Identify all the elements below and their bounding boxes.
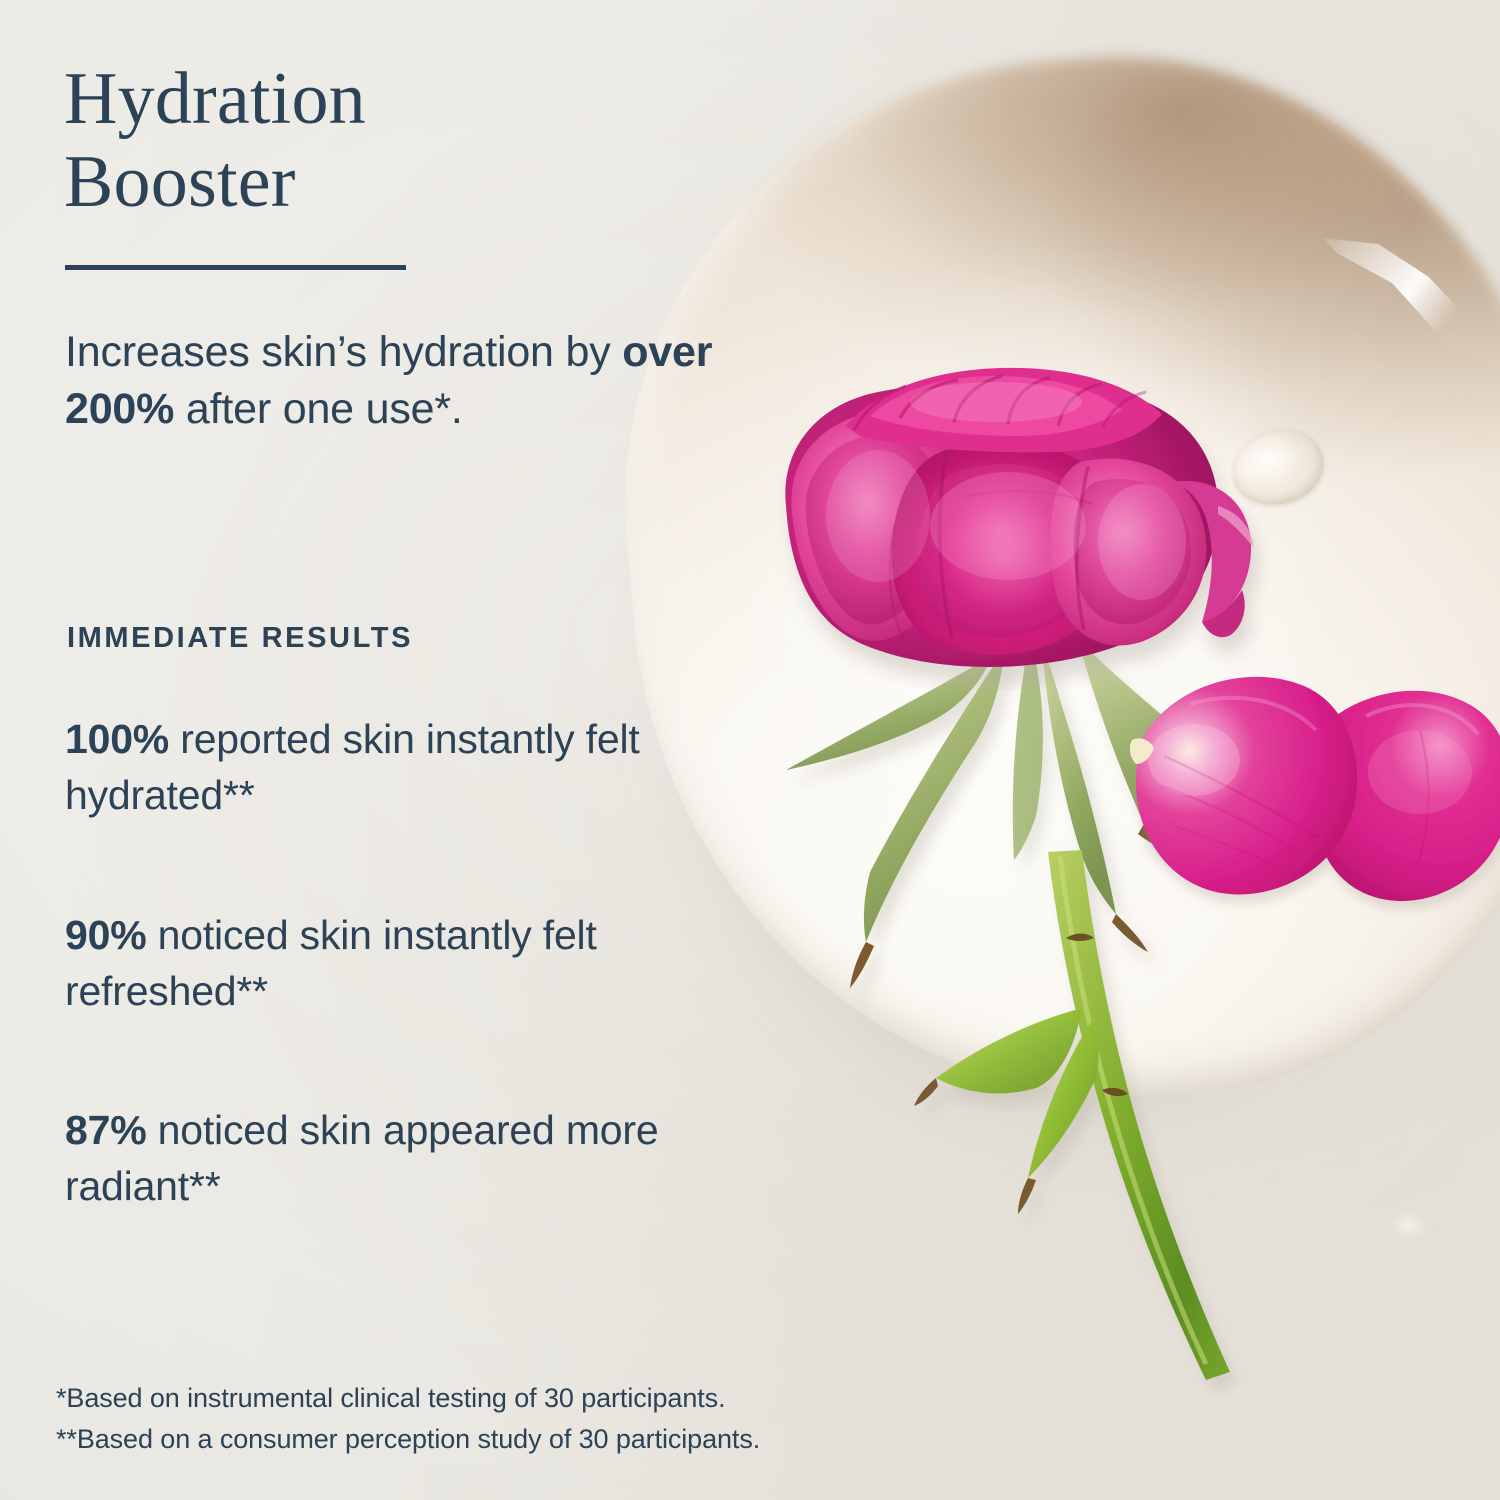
footnote-line-2: **Based on a consumer perception study o…: [56, 1419, 1056, 1460]
hero-claim-tail: after one use*.: [174, 385, 462, 433]
results-section-label: IMMEDIATE RESULTS: [67, 622, 413, 655]
result-item-2: 90% noticed skin instantly felt refreshe…: [65, 908, 765, 1020]
hero-claim: Increases skin’s hydration by over 200% …: [65, 324, 805, 438]
loose-rose-petals: [1120, 660, 1500, 950]
footnote-line-1: *Based on instrumental clinical testing …: [56, 1378, 1056, 1419]
rose-bloom: [750, 330, 1270, 690]
result-stat-1: 100%: [65, 716, 169, 762]
result-stat-3: 87%: [65, 1107, 146, 1153]
footnotes: *Based on instrumental clinical testing …: [56, 1378, 1056, 1460]
result-text-3: noticed skin appeared more radiant**: [65, 1107, 658, 1209]
result-item-3: 87% noticed skin appeared more radiant**: [65, 1103, 765, 1215]
hero-claim-lead: Increases skin’s hydration by: [65, 328, 622, 376]
title-divider: [65, 265, 406, 270]
result-item-1: 100% reported skin instantly felt hydrat…: [65, 712, 765, 824]
product-claims-graphic: Hydration Booster Increases skin’s hydra…: [0, 0, 1500, 1500]
result-stat-2: 90%: [65, 912, 146, 958]
page-title: Hydration Booster: [64, 58, 624, 224]
